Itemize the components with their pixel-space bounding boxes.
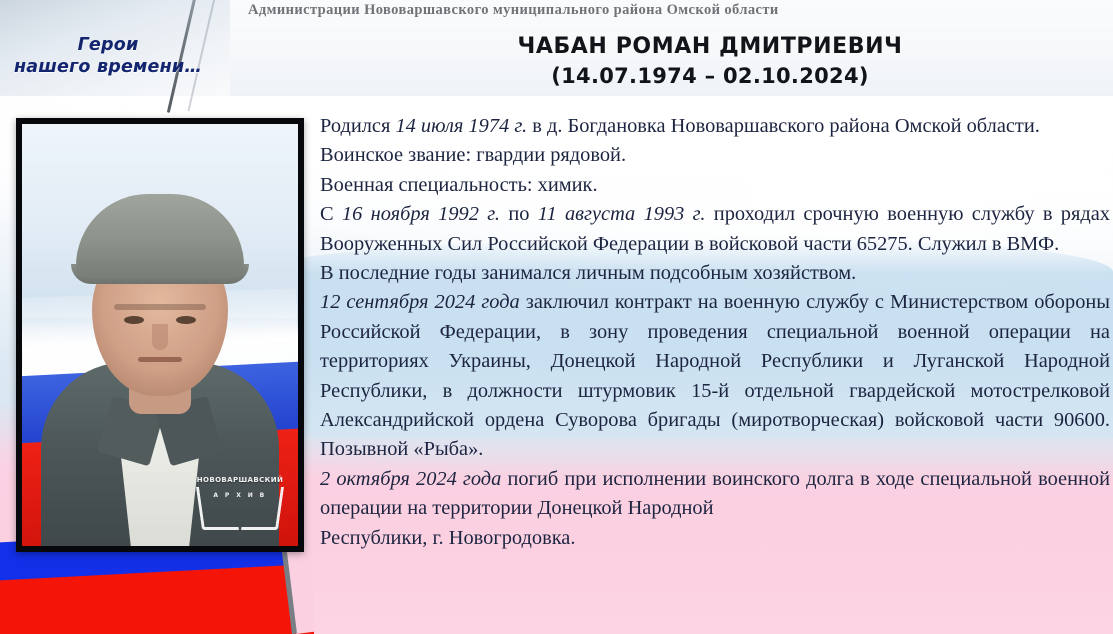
hero-banner-line1: Герои: [10, 34, 206, 56]
bio-p1-date: 14 июля 1974 г.: [395, 115, 527, 137]
bio-p6-date: 12 сентября 2024 года: [320, 291, 520, 313]
bio-p4-a: С: [320, 203, 342, 225]
figure-flat-cap: [76, 194, 244, 278]
open-book-icon: А Р Х И В: [199, 486, 281, 530]
person-life-dates: (14.07.1974 – 02.10.2024): [330, 64, 1090, 88]
portrait-photo: НОВОВАРШАВСКИЙ А Р Х И В: [22, 124, 298, 546]
figure-mouth: [138, 357, 182, 362]
figure-eye-right: [176, 316, 196, 324]
bio-p6-b: заключил контракт на военную службу с Ми…: [320, 291, 1110, 460]
hero-banner-title: Герои нашего времени…: [10, 34, 206, 79]
slide-root: Герои нашего времени… Администрации Ново…: [0, 0, 1113, 634]
portrait-frame: НОВОВАРШАВСКИЙ А Р Х И В: [16, 118, 304, 552]
organisation-header: Администрации Нововаршавского муниципаль…: [248, 2, 888, 19]
bio-p7-date: 2 октября 2024 года: [320, 468, 501, 490]
figure-eye-left: [124, 316, 144, 324]
figure-nose: [152, 324, 168, 350]
figure-brow: [114, 304, 206, 310]
watermark-title: НОВОВАРШАВСКИЙ: [194, 476, 286, 484]
watermark-subtitle: А Р Х И В: [199, 492, 281, 499]
bio-paragraph-conscription: С 16 ноября 1992 г. по 11 августа 1993 г…: [320, 200, 1110, 259]
bio-p1-a: Родился: [320, 115, 395, 137]
bio-paragraph-recent-years: В последние годы занимался личным подсоб…: [320, 259, 1110, 288]
bio-paragraph-rank: Воинское звание: гвардии рядовой.: [320, 141, 1110, 170]
bio-paragraph-death: 2 октября 2024 года погиб при исполнении…: [320, 465, 1110, 524]
archive-watermark: НОВОВАРШАВСКИЙ А Р Х И В: [194, 476, 286, 530]
biography-text: Родился 14 июля 1974 г. в д. Богдановка …: [320, 112, 1110, 553]
bio-paragraph-birth: Родился 14 июля 1974 г. в д. Богдановка …: [320, 112, 1110, 141]
bio-p4-date2: 11 августа 1993 г.: [538, 203, 706, 225]
bio-p4-b: по: [500, 203, 538, 225]
bio-paragraph-contract: 12 сентября 2024 года заключил контракт …: [320, 288, 1110, 464]
bio-p1-b: в д. Богдановка Нововаршавского района О…: [527, 115, 1040, 137]
hero-banner-line2: нашего времени…: [10, 56, 206, 78]
bio-paragraph-specialty: Военная специальность: химик.: [320, 171, 1110, 200]
bio-p4-date1: 16 ноября 1992 г.: [342, 203, 500, 225]
bio-paragraph-death-place: Республики, г. Новогродовка.: [320, 524, 1110, 553]
page-title: ЧАБАН РОМАН ДМИТРИЕВИЧ: [330, 34, 1090, 59]
